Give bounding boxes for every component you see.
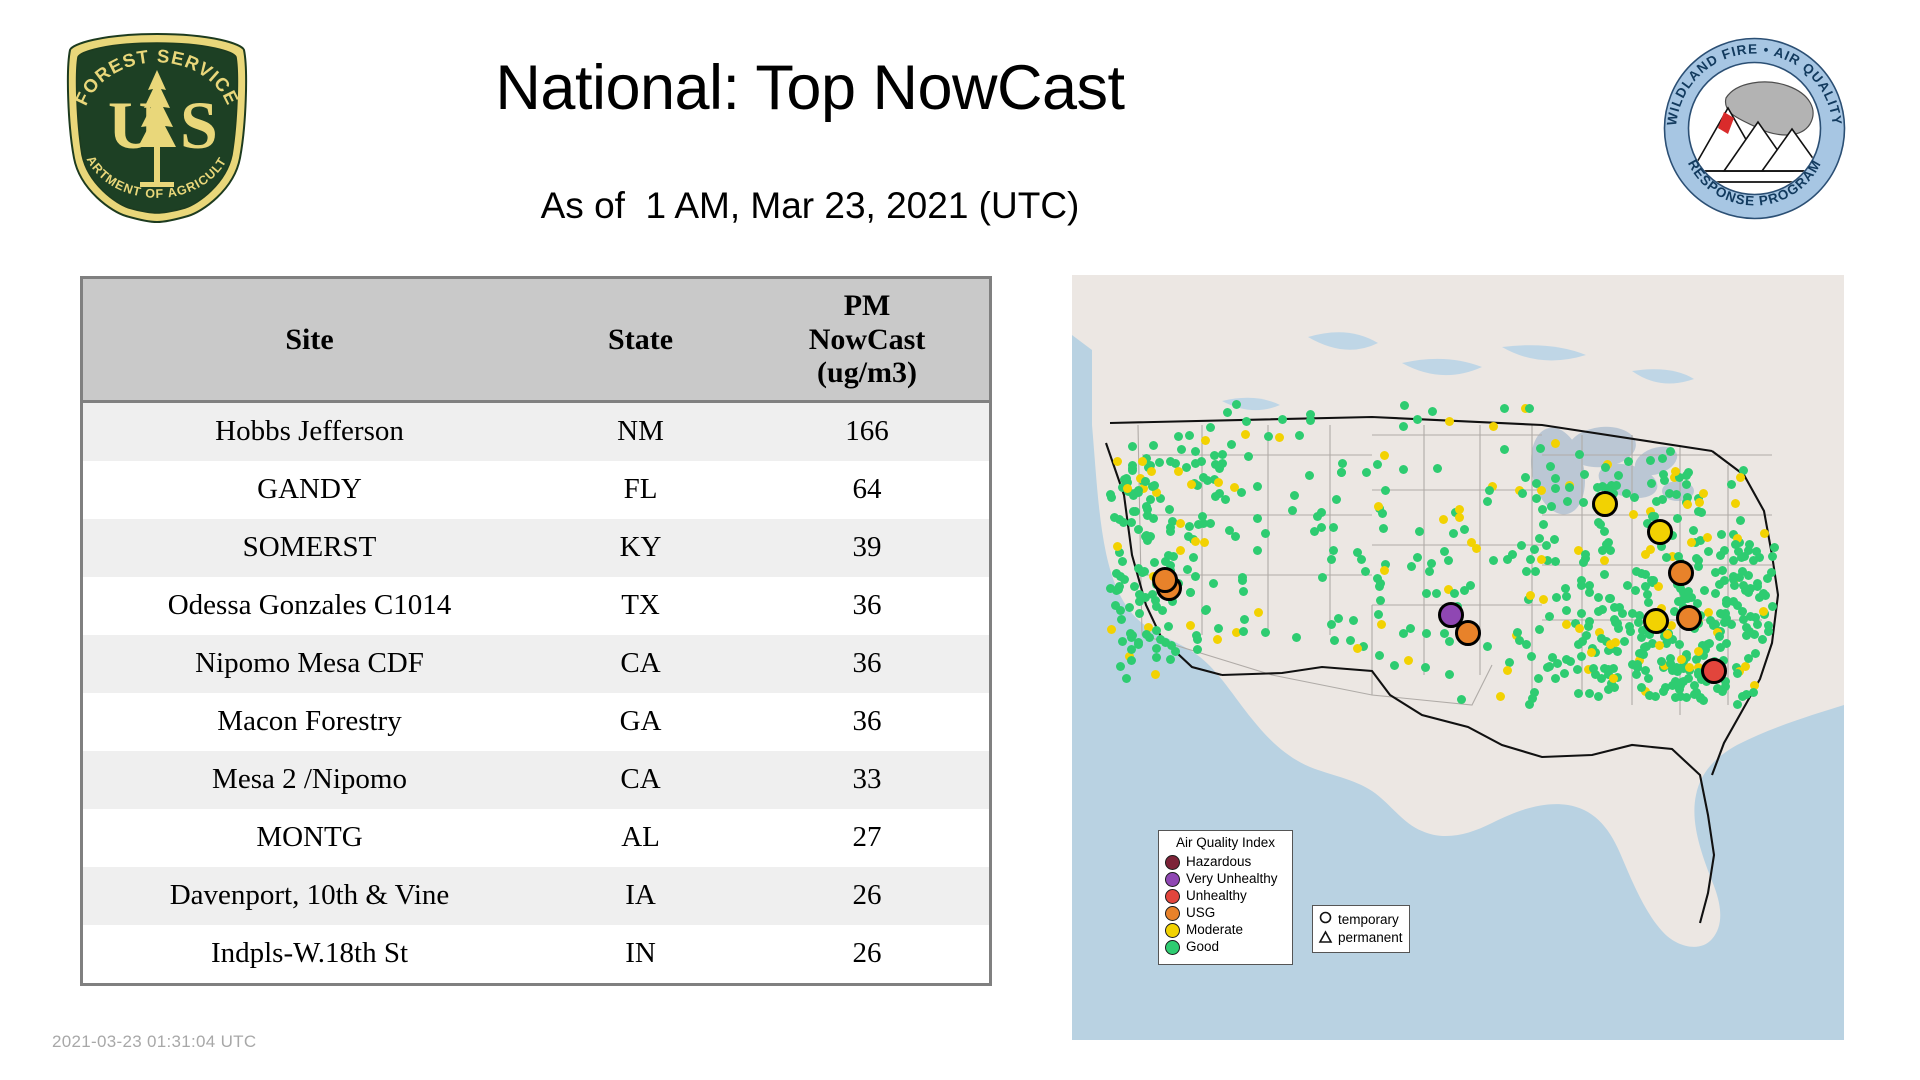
pm-nowcast-cell: 39 (745, 519, 990, 577)
state-cell: IN (536, 925, 745, 985)
aqi-monitor-dot (1152, 653, 1161, 662)
aqi-monitor-dot (1684, 587, 1693, 596)
aqi-monitor-dot (1166, 655, 1175, 664)
svg-text:S: S (180, 87, 218, 163)
aqi-monitor-dot (1551, 674, 1560, 683)
aqi-monitor-dot (1158, 606, 1167, 615)
aqi-monitor-dot (1532, 479, 1541, 488)
aqi-monitor-dot (1532, 494, 1541, 503)
aqi-monitor-dot (1399, 422, 1408, 431)
aqi-monitor-dot (1694, 647, 1703, 656)
table-row: Odessa Gonzales C1014TX36 (82, 577, 991, 635)
site-type-legend: temporary permanent (1312, 905, 1410, 953)
highlighted-monitor-ia[interactable] (1592, 491, 1618, 517)
aqi-monitor-dot (1253, 546, 1262, 555)
aqi-monitor-dot (1445, 670, 1454, 679)
table-row: Davenport, 10th & VineIA26 (82, 867, 991, 925)
state-cell: GA (536, 693, 745, 751)
aqi-monitor-dot (1361, 567, 1370, 576)
aqi-monitor-dot (1106, 490, 1115, 499)
aqi-monitor-dot (1118, 557, 1127, 566)
aqi-monitor-dot (1375, 651, 1384, 660)
aqi-monitor-dot (1594, 607, 1603, 616)
aqi-monitor-dot (1729, 556, 1738, 565)
aqi-monitor-dot (1237, 488, 1246, 497)
aqi-monitor-dot (1150, 481, 1159, 490)
state-cell: NM (536, 401, 745, 461)
aqi-monitor-dot (1166, 527, 1175, 536)
aqi-monitor-dot (1241, 430, 1250, 439)
aqi-monitor-dot (1362, 468, 1371, 477)
aqi-monitor-dot (1378, 509, 1387, 518)
site-cell: MONTG (82, 809, 537, 867)
aqi-monitor-dot (1575, 624, 1584, 633)
aqi-monitor-dot (1122, 674, 1131, 683)
legend-row-permanent: permanent (1318, 930, 1404, 948)
aqi-monitor-dot (1214, 624, 1223, 633)
table-row: Mesa 2 /NipomoCA33 (82, 751, 991, 809)
aqi-monitor-dot (1432, 589, 1441, 598)
aqi-monitor-dot (1657, 657, 1666, 666)
aqi-monitor-dot (1327, 555, 1336, 564)
aqi-monitor-dot (1522, 640, 1531, 649)
aqi-monitor-dot (1641, 666, 1650, 675)
generated-timestamp: 2021-03-23 01:31:04 UTC (52, 1032, 256, 1052)
pm-line-2: NowCast (749, 323, 985, 357)
aqi-monitor-dot (1318, 573, 1327, 582)
pm-nowcast-cell: 26 (745, 867, 990, 925)
aqi-monitor-dot (1768, 552, 1777, 561)
aqi-monitor-dot (1662, 553, 1671, 562)
aqi-monitor-dot (1695, 498, 1704, 507)
aqi-color-swatch (1165, 872, 1180, 887)
site-cell: Nipomo Mesa CDF (82, 635, 537, 693)
aqi-legend-row: Very Unhealthy (1165, 872, 1286, 887)
aqi-monitor-dot (1760, 529, 1769, 538)
aqi-monitor-dot (1525, 404, 1534, 413)
site-cell: Hobbs Jefferson (82, 401, 537, 461)
aqi-monitor-dot (1239, 627, 1248, 636)
aqi-monitor-dot (1440, 547, 1449, 556)
aqi-monitor-dot (1107, 625, 1116, 634)
aqi-monitor-dot (1530, 545, 1539, 554)
table-row: Macon ForestryGA36 (82, 693, 991, 751)
aqi-monitor-dot (1531, 567, 1540, 576)
aqi-monitor-dot (1275, 433, 1284, 442)
aqi-monitor-dot (1489, 422, 1498, 431)
aqi-monitor-dot (1238, 576, 1247, 585)
page-title: National: Top NowCast (360, 52, 1260, 124)
aqi-legend-label: Very Unhealthy (1186, 872, 1278, 886)
aqi-monitor-dot (1288, 506, 1297, 515)
aqi-monitor-dot (1353, 644, 1362, 653)
site-cell: Davenport, 10th & Vine (82, 867, 537, 925)
pm-nowcast-cell: 26 (745, 925, 990, 985)
aqi-monitor-dot (1534, 674, 1543, 683)
aqi-monitor-dot (1565, 483, 1574, 492)
aqi-monitor-dot (1716, 643, 1725, 652)
aqi-monitor-dot (1600, 570, 1609, 579)
state-cell: IA (536, 867, 745, 925)
pm-nowcast-cell: 36 (745, 577, 990, 635)
state-cell: TX (536, 577, 745, 635)
aqi-monitor-dot (1191, 572, 1200, 581)
aqi-monitor-dot (1631, 586, 1640, 595)
aqi-monitor-dot (1503, 666, 1512, 675)
aqi-monitor-dot (1232, 400, 1241, 409)
aqi-monitor-dot (1605, 594, 1614, 603)
aqi-monitor-dot (1551, 557, 1560, 566)
pm-nowcast-cell: 166 (745, 401, 990, 461)
aqi-monitor-dot (1738, 692, 1747, 701)
highlighted-monitor-ga[interactable] (1676, 605, 1702, 631)
aqi-monitor-dot (1535, 534, 1544, 543)
aqi-monitor-dot (1242, 417, 1251, 426)
aqi-monitor-dot (1767, 568, 1776, 577)
circle-outline-icon (1318, 911, 1335, 929)
aqi-monitor-dot (1600, 556, 1609, 565)
highlighted-monitor-in[interactable] (1647, 519, 1673, 545)
aqi-monitor-dot (1201, 436, 1210, 445)
aqi-legend: Air Quality Index HazardousVery Unhealth… (1158, 830, 1293, 965)
aqi-monitor-dot (1729, 597, 1738, 606)
aqi-monitor-dot (1768, 602, 1777, 611)
highlighted-monitor-fl[interactable] (1701, 658, 1727, 684)
aqi-legend-row: Hazardous (1165, 855, 1286, 870)
aqi-color-swatch (1165, 906, 1180, 921)
aqi-monitor-dot (1376, 596, 1385, 605)
aqi-monitor-dot (1183, 565, 1192, 574)
aqi-monitor-dot (1117, 615, 1126, 624)
site-cell: Odessa Gonzales C1014 (82, 577, 537, 635)
state-cell: KY (536, 519, 745, 577)
site-cell: SOMERST (82, 519, 537, 577)
us-forest-service-logo: U S FOREST SERVICE DEPARTMENT OF AGRICUL… (62, 30, 252, 225)
aqi-monitor-dot (1551, 439, 1560, 448)
table-row: SOMERSTKY39 (82, 519, 991, 577)
aqi-monitor-dot (1213, 635, 1222, 644)
aqi-monitor-dot (1545, 612, 1554, 621)
aqi-monitor-dot (1736, 473, 1745, 482)
highlighted-monitor-ca[interactable] (1152, 567, 1178, 593)
page-subtitle: As of 1 AM, Mar 23, 2021 (UTC) (360, 185, 1260, 227)
aqi-monitor-dot (1128, 442, 1137, 451)
aqi-monitor-dot (1329, 546, 1338, 555)
aqi-monitor-dot (1574, 689, 1583, 698)
site-cell: Macon Forestry (82, 693, 537, 751)
aqi-monitor-map[interactable]: Air Quality Index HazardousVery Unhealth… (1072, 275, 1844, 1040)
aqi-monitor-dot (1644, 598, 1653, 607)
aqi-monitor-dot (1221, 495, 1230, 504)
aqi-monitor-dot (1644, 674, 1653, 683)
aqi-monitor-dot (1253, 482, 1262, 491)
aqi-legend-label: Hazardous (1186, 855, 1251, 869)
pm-nowcast-cell: 36 (745, 693, 990, 751)
aqi-monitor-dot (1646, 456, 1655, 465)
aqi-monitor-dot (1745, 540, 1754, 549)
aqi-legend-label: Moderate (1186, 923, 1243, 937)
aqi-monitor-dot (1295, 431, 1304, 440)
aqi-monitor-dot (1313, 512, 1322, 521)
aqi-monitor-dot (1526, 591, 1535, 600)
aqi-monitor-dot (1744, 571, 1753, 580)
aqi-monitor-dot (1422, 589, 1431, 598)
legend-label-permanent: permanent (1338, 931, 1403, 945)
aqi-monitor-dot (1404, 656, 1413, 665)
table-row: Hobbs JeffersonNM166 (82, 401, 991, 461)
aqi-monitor-dot (1127, 656, 1136, 665)
aqi-monitor-dot (1141, 593, 1150, 602)
aqi-monitor-dot (1138, 457, 1147, 466)
aqi-monitor-dot (1377, 620, 1386, 629)
aqi-monitor-dot (1261, 628, 1270, 637)
table-row: Indpls-W.18th StIN26 (82, 925, 991, 985)
aqi-monitor-dot (1685, 663, 1694, 672)
column-header-pm-nowcast: PM NowCast (ug/m3) (745, 278, 990, 402)
aqi-monitor-dot (1612, 481, 1621, 490)
aqi-monitor-dot (1140, 567, 1149, 576)
aqi-monitor-dot (1503, 555, 1512, 564)
aqi-legend-title: Air Quality Index (1165, 836, 1286, 850)
aqi-monitor-dot (1741, 662, 1750, 671)
aqi-monitor-dot (1445, 417, 1454, 426)
aqi-monitor-dot (1390, 661, 1399, 670)
aqi-monitor-dot (1428, 407, 1437, 416)
aqi-monitor-dot (1165, 505, 1174, 514)
aqi-monitor-dot (1455, 513, 1464, 522)
aqi-monitor-dot (1374, 610, 1383, 619)
aqi-monitor-dot (1733, 700, 1742, 709)
aqi-monitor-dot (1209, 579, 1218, 588)
aqi-monitor-dot (1759, 589, 1768, 598)
aqi-monitor-dot (1574, 640, 1583, 649)
aqi-monitor-dot (1683, 500, 1692, 509)
aqi-monitor-dot (1292, 633, 1301, 642)
aqi-monitor-dot (1671, 467, 1680, 476)
aqi-legend-row: Unhealthy (1165, 889, 1286, 904)
aqi-monitor-dot (1585, 588, 1594, 597)
aqi-monitor-dot (1580, 470, 1589, 479)
aqi-monitor-dot (1552, 593, 1561, 602)
aqi-monitor-dot (1346, 636, 1355, 645)
pm-nowcast-cell: 36 (745, 635, 990, 693)
aqi-monitor-dot (1457, 695, 1466, 704)
column-header-state: State (536, 278, 745, 402)
table-row: GANDYFL64 (82, 461, 991, 519)
aqi-monitor-dot (1218, 450, 1227, 459)
state-cell: CA (536, 751, 745, 809)
table-row: MONTGAL27 (82, 809, 991, 867)
aqi-monitor-dot (1601, 463, 1610, 472)
column-header-site: Site (82, 278, 537, 402)
aqi-monitor-dot (1146, 532, 1155, 541)
aqi-monitor-dot (1380, 566, 1389, 575)
aqi-monitor-dot (1682, 693, 1691, 702)
wildland-fire-air-quality-logo: WILDLAND FIRE • AIR QUALITY RESPONSE PRO… (1662, 36, 1847, 221)
highlighted-monitor-ky[interactable] (1668, 560, 1694, 586)
aqi-monitor-dot (1624, 457, 1633, 466)
aqi-legend-label: USG (1186, 906, 1215, 920)
aqi-monitor-dot (1658, 454, 1667, 463)
aqi-monitor-dot (1186, 621, 1195, 630)
aqi-monitor-dot (1717, 530, 1726, 539)
aqi-monitor-dot (1174, 432, 1183, 441)
aqi-monitor-dot (1579, 558, 1588, 567)
aqi-monitor-dot (1718, 687, 1727, 696)
aqi-monitor-dot (1127, 645, 1136, 654)
aqi-monitor-dot (1632, 567, 1641, 576)
aqi-monitor-dot (1535, 625, 1544, 634)
aqi-monitor-dot (1764, 627, 1773, 636)
aqi-legend-label: Unhealthy (1186, 889, 1247, 903)
aqi-monitor-dot (1518, 489, 1527, 498)
aqi-monitor-dot (1697, 508, 1706, 517)
aqi-monitor-dot (1305, 471, 1314, 480)
aqi-monitor-dot (1440, 629, 1449, 638)
triangle-outline-icon (1318, 930, 1335, 948)
aqi-monitor-dot (1261, 529, 1270, 538)
aqi-monitor-dot (1357, 555, 1366, 564)
aqi-legend-row: Moderate (1165, 923, 1286, 938)
aqi-monitor-dot (1114, 585, 1123, 594)
aqi-monitor-dot (1562, 655, 1571, 664)
aqi-monitor-dot (1202, 605, 1211, 614)
aqi-monitor-dot (1560, 669, 1569, 678)
aqi-legend-row: USG (1165, 906, 1286, 921)
aqi-monitor-dot (1113, 457, 1122, 466)
aqi-monitor-dot (1609, 674, 1618, 683)
aqi-monitor-dot (1240, 615, 1249, 624)
pm-nowcast-cell: 27 (745, 809, 990, 867)
state-cell: AL (536, 809, 745, 867)
site-cell: GANDY (82, 461, 537, 519)
aqi-monitor-dot (1112, 569, 1121, 578)
aqi-monitor-dot (1715, 632, 1724, 641)
aqi-monitor-dot (1151, 670, 1160, 679)
aqi-monitor-dot (1123, 484, 1132, 493)
aqi-monitor-dot (1553, 659, 1562, 668)
state-cell: FL (536, 461, 745, 519)
aqi-color-swatch (1165, 940, 1180, 955)
aqi-monitor-dot (1425, 567, 1434, 576)
aqi-monitor-dot (1577, 652, 1586, 661)
aqi-monitor-dot (1500, 404, 1509, 413)
aqi-color-swatch (1165, 923, 1180, 938)
aqi-monitor-dot (1134, 486, 1143, 495)
aqi-monitor-dot (1239, 587, 1248, 596)
aqi-monitor-dot (1151, 596, 1160, 605)
highlighted-monitor-al[interactable] (1643, 608, 1669, 634)
aqi-monitor-dot (1116, 606, 1125, 615)
aqi-monitor-dot (1521, 473, 1530, 482)
aqi-monitor-dot (1483, 497, 1492, 506)
aqi-monitor-dot (1550, 535, 1559, 544)
aqi-color-swatch (1165, 889, 1180, 904)
legend-label-temporary: temporary (1338, 913, 1399, 927)
aqi-monitor-dot (1182, 463, 1191, 472)
aqi-monitor-dot (1671, 677, 1680, 686)
top-nowcast-table: Site State PM NowCast (ug/m3) Hobbs Jeff… (80, 276, 992, 986)
aqi-color-swatch (1165, 855, 1180, 870)
aqi-legend-label: Good (1186, 940, 1219, 954)
aqi-monitor-dot (1630, 493, 1639, 502)
aqi-monitor-dot (1152, 644, 1161, 653)
aqi-monitor-dot (1349, 616, 1358, 625)
aqi-monitor-dot (1415, 527, 1424, 536)
aqi-monitor-dot (1439, 515, 1448, 524)
aqi-monitor-dot (1128, 466, 1137, 475)
table-row: Nipomo Mesa CDFCA36 (82, 635, 991, 693)
aqi-monitor-dot (1677, 655, 1686, 664)
aqi-monitor-dot (1672, 490, 1681, 499)
pm-line-3: (ug/m3) (749, 356, 985, 390)
aqi-monitor-dot (1600, 527, 1609, 536)
pm-nowcast-cell: 33 (745, 751, 990, 809)
aqi-monitor-dot (1522, 567, 1531, 576)
site-cell: Mesa 2 /Nipomo (82, 751, 537, 809)
site-cell: Indpls-W.18th St (82, 925, 537, 985)
aqi-monitor-dot (1658, 495, 1667, 504)
aqi-monitor-dot (1164, 622, 1173, 631)
aqi-monitor-dot (1185, 431, 1194, 440)
aqi-monitor-dot (1143, 505, 1152, 514)
aqi-monitor-dot (1641, 582, 1650, 591)
aqi-monitor-dot (1450, 589, 1459, 598)
aqi-monitor-dot (1581, 550, 1590, 559)
aqi-monitor-dot (1218, 459, 1227, 468)
aqi-monitor-dot (1542, 541, 1551, 550)
aqi-monitor-dot (1610, 683, 1619, 692)
pm-line-1: PM (749, 289, 985, 323)
aqi-monitor-dot (1562, 606, 1571, 615)
aqi-monitor-dot (1642, 642, 1651, 651)
aqi-monitor-dot (1598, 482, 1607, 491)
aqi-monitor-dot (1606, 640, 1615, 649)
table-header-row: Site State PM NowCast (ug/m3) (82, 278, 991, 402)
aqi-monitor-dot (1604, 665, 1613, 674)
aqi-monitor-dot (1373, 574, 1382, 583)
aqi-monitor-dot (1637, 633, 1646, 642)
legend-row-temporary: temporary (1318, 911, 1404, 929)
pm-nowcast-cell: 64 (745, 461, 990, 519)
aqi-monitor-dot (1115, 515, 1124, 524)
aqi-monitor-dot (1113, 542, 1122, 551)
aqi-monitor-dot (1536, 444, 1545, 453)
aqi-monitor-dot (1575, 450, 1584, 459)
aqi-legend-row: Good (1165, 940, 1286, 955)
aqi-monitor-dot (1696, 694, 1705, 703)
highlighted-monitor-tx[interactable] (1455, 620, 1481, 646)
aqi-monitor-dot (1538, 505, 1547, 514)
state-cell: CA (536, 635, 745, 693)
aqi-monitor-dot (1629, 510, 1638, 519)
aqi-monitor-dot (1659, 470, 1668, 479)
aqi-monitor-dot (1689, 526, 1698, 535)
aqi-monitor-dot (1200, 538, 1209, 547)
